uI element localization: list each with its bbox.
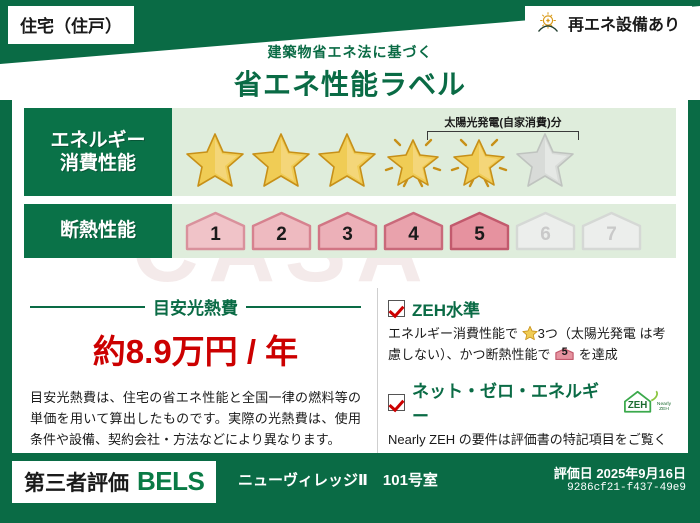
energy-star-row — [184, 130, 576, 190]
zeh-house-logo-icon: ZEH Nearly ZEH — [621, 389, 676, 415]
star-6-empty — [514, 130, 576, 190]
heading-rule-left — [30, 306, 145, 308]
utility-cost-value: 約8.9万円 / 年 — [30, 325, 361, 373]
insulation-level-2-num: 2 — [276, 224, 287, 251]
solar-bracket-label: 太陽光発電(自家消費)分 — [427, 114, 579, 130]
title-main: 省エネ性能ラベル — [0, 63, 700, 103]
heading-rule-right — [246, 306, 361, 308]
insulation-level-7: 7 — [580, 211, 643, 251]
insulation-level-6-num: 6 — [540, 224, 551, 251]
energy-label-line1: エネルギー — [50, 129, 145, 152]
energy-stars-area: 太陽光発電(自家消費)分 — [172, 108, 676, 196]
bels-jp-label: 第三者評価 — [24, 467, 129, 497]
energy-label-root: 住宅（住戸） 再エネ設備あり 建築物省エネ法に基づく 省エネ性能ラベル CASA… — [0, 0, 700, 523]
bels-en-label: BELS — [137, 466, 204, 497]
solar-sun-icon — [535, 11, 561, 35]
svg-text:ZEH: ZEH — [628, 400, 648, 411]
label-footer: 第三者評価 BELS ニューヴィレッジⅡ 101号室 評価日 2025年9月16… — [0, 453, 700, 523]
insulation-level-1-num: 1 — [210, 224, 221, 251]
insulation-level-5-achieved: 5 — [448, 211, 511, 251]
net-zero-header: ネット・ゼロ・エネルギー ZEH Nearly ZEH — [388, 377, 676, 427]
evaluation-date: 評価日 2025年9月16日 — [554, 463, 686, 482]
zeh-standard-checkbox[interactable] — [388, 300, 405, 317]
label-body-card: CASA エネルギー 消費性能 太陽光発電(自家消費)分 — [12, 98, 688, 453]
insulation-level-5-num: 5 — [474, 224, 485, 251]
star-2-filled — [250, 130, 312, 190]
net-zero-body: Nearly ZEH の要件は評価書の特記項目をご覧ください。 — [388, 430, 676, 453]
zeh-body-part3: を達成 — [579, 347, 618, 362]
lower-columns: 目安光熱費 約8.9万円 / 年 目安光熱費は、住宅の省エネ性能と全国一律の燃料… — [12, 288, 688, 453]
inline-star-icon — [522, 325, 538, 341]
utility-cost-heading: 目安光熱費 — [153, 294, 238, 319]
label-title-block: 建築物省エネ法に基づく 省エネ性能ラベル — [0, 42, 700, 103]
insulation-level-7-num: 7 — [606, 224, 617, 251]
zeh-standard-body: エネルギー消費性能で 3つ（太陽光発電 は考慮しない）、かつ断熱性能で 5 を達… — [388, 324, 676, 365]
svg-text:ZEH: ZEH — [659, 406, 669, 412]
insulation-level-6: 6 — [514, 211, 577, 251]
energy-performance-section: エネルギー 消費性能 太陽光発電(自家消費)分 — [24, 108, 676, 196]
zeh-body-part1: エネルギー消費性能で — [388, 326, 518, 341]
insulation-level-3: 3 — [316, 211, 379, 251]
property-name: ニューヴィレッジⅡ 101号室 — [238, 469, 438, 490]
insulation-level-4-num: 4 — [408, 224, 419, 251]
insulation-levels-area: 1 2 3 — [172, 204, 676, 258]
star-5-filled-solar — [448, 130, 510, 190]
title-subtitle: 建築物省エネ法に基づく — [0, 42, 700, 62]
star-4-filled-solar — [382, 130, 444, 190]
energy-label-line2: 消費性能 — [60, 152, 136, 175]
bels-certification-box: 第三者評価 BELS — [12, 461, 216, 503]
star-1-filled — [184, 130, 246, 190]
renewable-badge-label: 再エネ設備あり — [568, 11, 680, 35]
inline-house-number: 5 — [555, 344, 574, 361]
inline-house-icon: 5 — [555, 346, 574, 362]
energy-performance-label: エネルギー 消費性能 — [24, 108, 172, 196]
dwelling-type-tag: 住宅（住戸） — [8, 6, 134, 44]
insulation-level-4: 4 — [382, 211, 445, 251]
utility-cost-note: 目安光熱費は、住宅の省エネ性能と全国一律の燃料等の単価を用いて算出したものです。… — [30, 387, 361, 450]
zeh-standard-header: ZEH水準 — [388, 296, 676, 321]
utility-cost-column: 目安光熱費 約8.9万円 / 年 目安光熱費は、住宅の省エネ性能と全国一律の燃料… — [12, 288, 377, 453]
insulation-level-3-num: 3 — [342, 224, 353, 251]
star-3-filled — [316, 130, 378, 190]
insulation-level-1: 1 — [184, 211, 247, 251]
standards-column: ZEH水準 エネルギー消費性能で 3つ（太陽光発電 は考慮しない）、かつ断熱性能… — [377, 288, 688, 453]
zeh-body-stars: 3つ（太陽光発電 — [538, 326, 636, 341]
net-zero-checkbox[interactable] — [388, 394, 405, 411]
insulation-performance-section: 断熱性能 1 2 — [24, 204, 676, 258]
evaluation-id: 9286cf21-f437-49e9 — [567, 482, 686, 494]
net-zero-title: ネット・ゼロ・エネルギー — [412, 377, 611, 427]
renewable-equipment-badge: 再エネ設備あり — [525, 6, 692, 41]
utility-cost-heading-row: 目安光熱費 — [30, 294, 361, 319]
zeh-standard-title: ZEH水準 — [412, 296, 480, 321]
insulation-performance-label: 断熱性能 — [24, 204, 172, 258]
insulation-level-2: 2 — [250, 211, 313, 251]
insulation-level-row: 1 2 3 — [184, 211, 643, 251]
